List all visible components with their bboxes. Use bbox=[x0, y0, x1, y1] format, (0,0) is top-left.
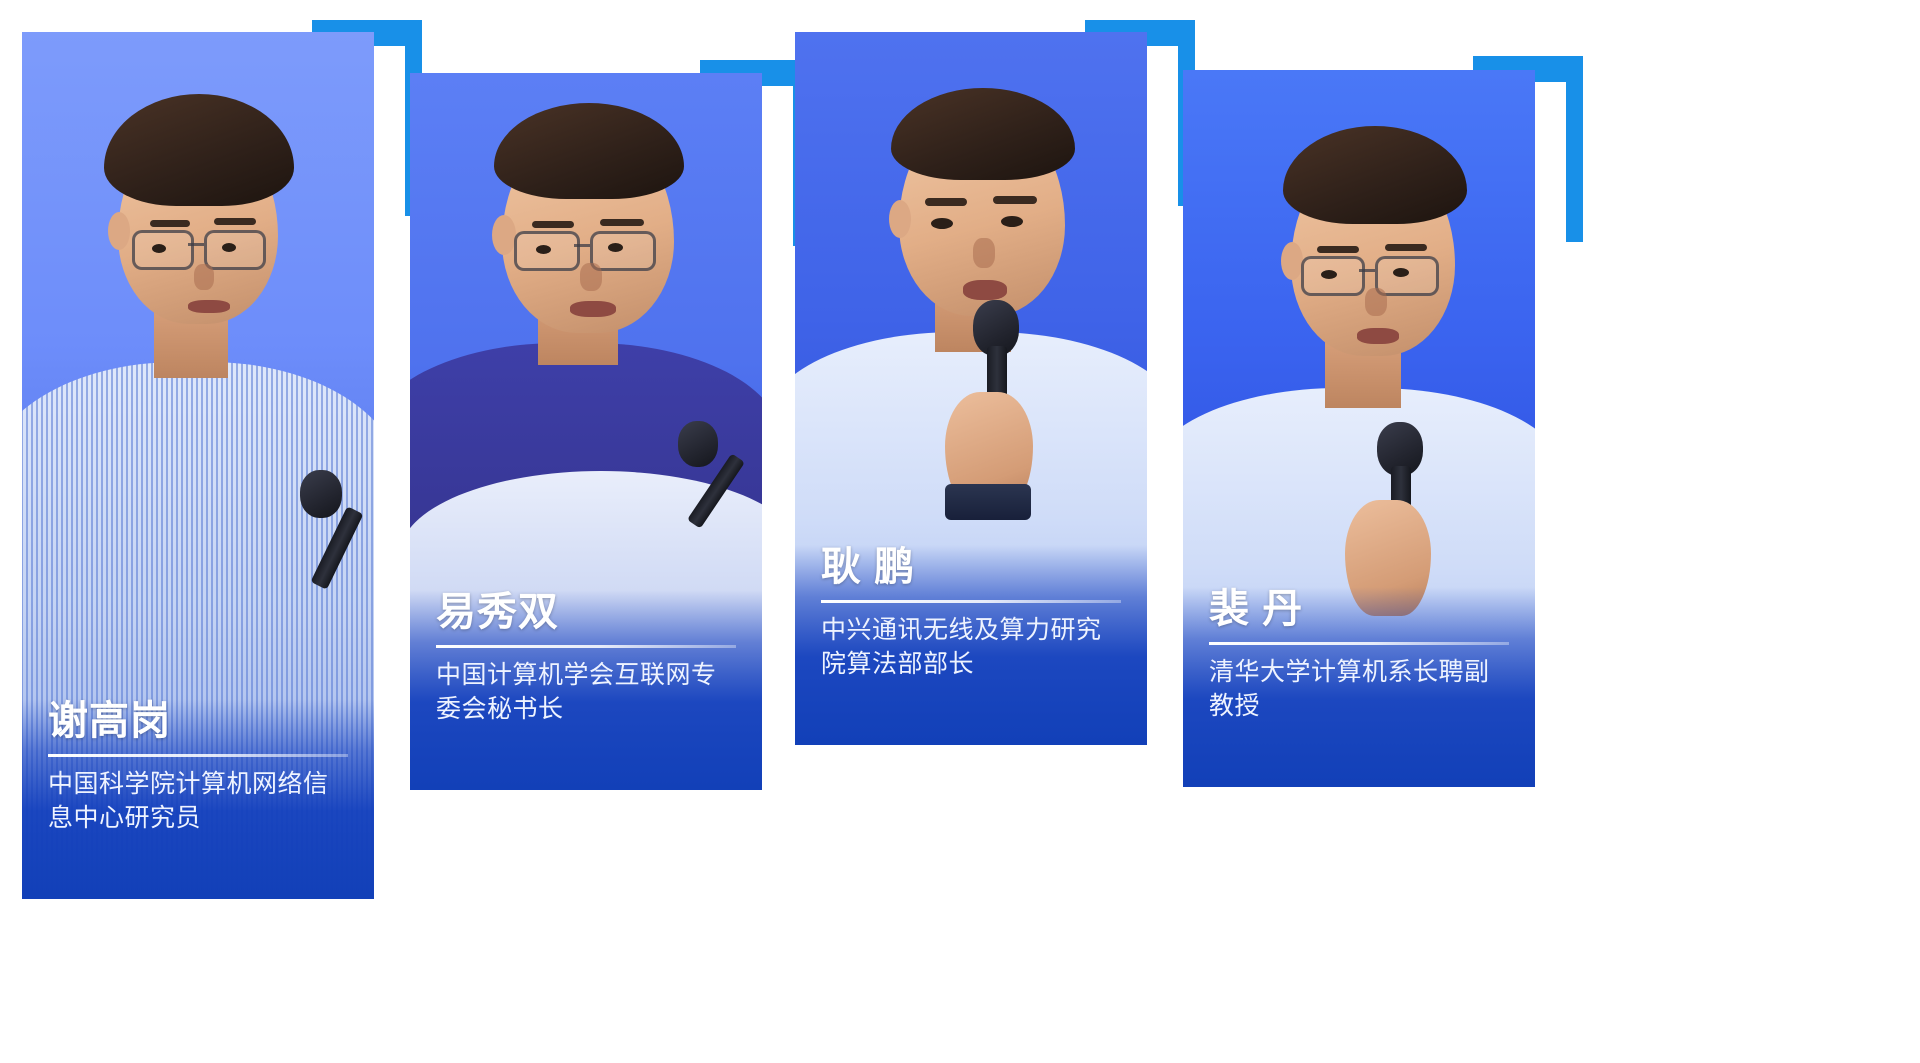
nose bbox=[580, 263, 602, 291]
microphone bbox=[668, 421, 762, 541]
glasses-bridge bbox=[1359, 269, 1375, 272]
eyebrow-right bbox=[214, 218, 256, 225]
mouth bbox=[570, 301, 616, 317]
eye-left bbox=[536, 245, 551, 254]
caption-divider bbox=[436, 645, 736, 648]
glasses-lens-right bbox=[590, 231, 656, 271]
speaker-affiliation: 中国计算机学会互联网专委会秘书长 bbox=[436, 658, 736, 727]
caption-divider bbox=[48, 754, 348, 757]
eyebrow-right bbox=[993, 196, 1037, 204]
eye-left bbox=[152, 244, 166, 253]
speaker-name: 谢高岗 bbox=[48, 699, 348, 744]
mouth bbox=[963, 280, 1007, 300]
speaker-card-1[interactable]: 谢高岗 中国科学院计算机网络信息中心研究员 bbox=[22, 32, 374, 899]
speaker-card-3[interactable]: 耿 鹏 中兴通讯无线及算力研究院算法部部长 bbox=[795, 32, 1147, 745]
wristwatch bbox=[945, 484, 1031, 520]
ear bbox=[492, 215, 516, 255]
ear bbox=[1281, 242, 1303, 280]
eyebrow-right bbox=[600, 219, 644, 226]
speaker-caption-3: 耿 鹏 中兴通讯无线及算力研究院算法部部长 bbox=[795, 545, 1147, 745]
mouth bbox=[188, 300, 230, 313]
glasses-lens-right bbox=[204, 230, 266, 270]
eyebrow-right bbox=[1385, 244, 1427, 251]
speaker-name: 耿 鹏 bbox=[821, 545, 1121, 590]
eye-left bbox=[931, 218, 953, 229]
speaker-name: 易秀双 bbox=[436, 590, 736, 635]
eyebrow-left bbox=[1317, 246, 1359, 253]
microphone-head bbox=[678, 421, 718, 467]
nose bbox=[973, 238, 995, 268]
mouth bbox=[1357, 328, 1399, 344]
eyebrow-left bbox=[150, 220, 190, 227]
ear bbox=[889, 200, 911, 238]
nose bbox=[194, 264, 214, 290]
hair bbox=[104, 94, 294, 206]
eyebrow-left bbox=[925, 198, 967, 206]
speaker-affiliation: 中国科学院计算机网络信息中心研究员 bbox=[48, 767, 348, 836]
nose bbox=[1365, 288, 1387, 316]
microphone bbox=[294, 470, 374, 590]
hair bbox=[891, 88, 1075, 180]
speaker-affiliation: 清华大学计算机系长聘副教授 bbox=[1209, 655, 1509, 724]
eye-right bbox=[222, 243, 236, 252]
speaker-caption-4: 裴 丹 清华大学计算机系长聘副教授 bbox=[1183, 587, 1535, 787]
speaker-card-4[interactable]: 裴 丹 清华大学计算机系长聘副教授 bbox=[1183, 70, 1535, 787]
eye-right bbox=[608, 243, 623, 252]
hair bbox=[1283, 126, 1467, 224]
accent-bar-vertical bbox=[1566, 56, 1583, 242]
microphone-body bbox=[310, 506, 363, 589]
speaker-caption-2: 易秀双 中国计算机学会互联网专委会秘书长 bbox=[410, 590, 762, 790]
eye-right bbox=[1393, 268, 1409, 277]
glasses-bridge bbox=[188, 243, 204, 246]
speaker-affiliation: 中兴通讯无线及算力研究院算法部部长 bbox=[821, 613, 1121, 682]
speaker-card-2[interactable]: 易秀双 中国计算机学会互联网专委会秘书长 bbox=[410, 73, 762, 790]
speaker-caption-1: 谢高岗 中国科学院计算机网络信息中心研究员 bbox=[22, 699, 374, 899]
ear bbox=[108, 212, 130, 250]
glasses-bridge bbox=[574, 244, 590, 247]
speaker-panel: 谢高岗 中国科学院计算机网络信息中心研究员 bbox=[0, 0, 1920, 1063]
eye-right bbox=[1001, 216, 1023, 227]
hair bbox=[494, 103, 684, 199]
microphone-head bbox=[300, 470, 342, 518]
caption-divider bbox=[1209, 642, 1509, 645]
eyebrow-left bbox=[532, 221, 574, 228]
speaker-name: 裴 丹 bbox=[1209, 587, 1509, 632]
caption-divider bbox=[821, 600, 1121, 603]
eye-left bbox=[1321, 270, 1337, 279]
glasses-lens-right bbox=[1375, 256, 1439, 296]
